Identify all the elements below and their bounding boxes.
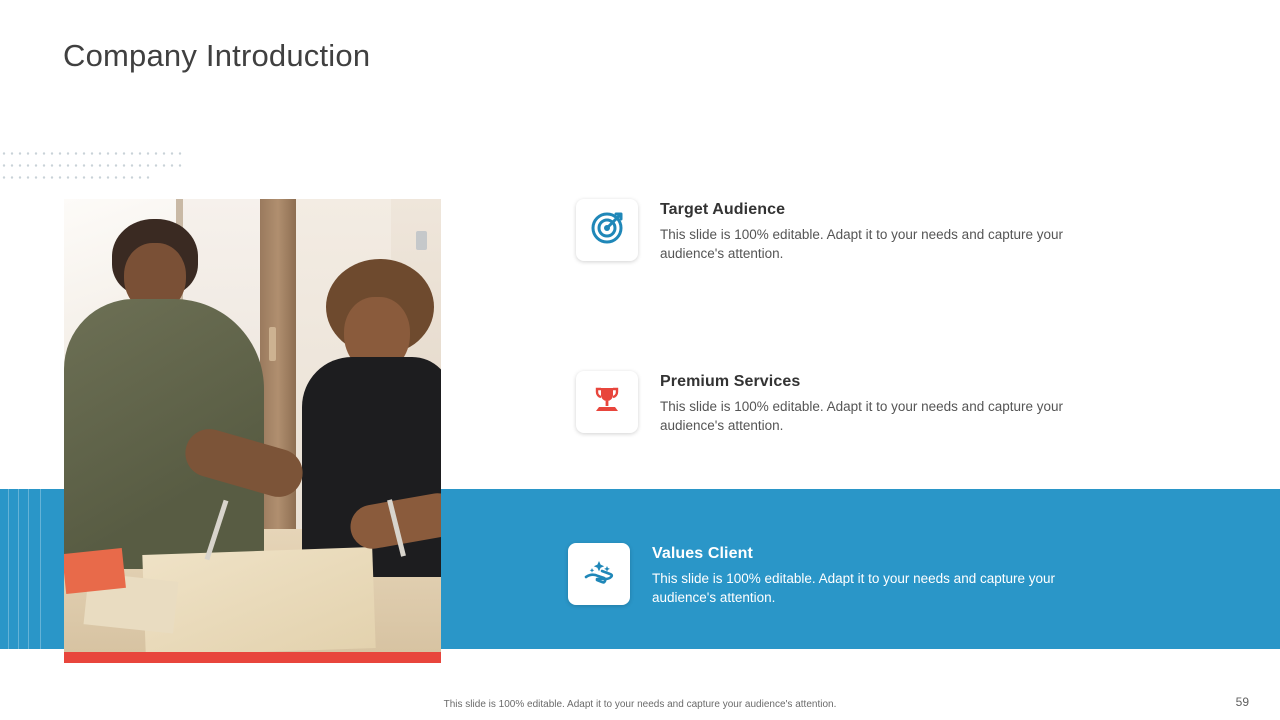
icon-box bbox=[576, 199, 638, 261]
feature-block-premium-services[interactable]: Premium Services This slide is 100% edit… bbox=[576, 371, 1100, 435]
feature-block-target-audience[interactable]: Target Audience This slide is 100% edita… bbox=[576, 199, 1100, 263]
dot-row bbox=[0, 176, 150, 179]
dot-row bbox=[0, 152, 182, 155]
blue-band-stripes bbox=[0, 489, 60, 649]
feature-description: This slide is 100% editable. Adapt it to… bbox=[652, 569, 1092, 607]
feature-description: This slide is 100% editable. Adapt it to… bbox=[660, 225, 1100, 263]
page-title: Company Introduction bbox=[63, 38, 370, 74]
feature-text: Target Audience This slide is 100% edita… bbox=[660, 199, 1100, 263]
hand-sparkle-icon bbox=[582, 555, 616, 594]
target-icon bbox=[590, 211, 624, 250]
icon-box bbox=[568, 543, 630, 605]
feature-title: Target Audience bbox=[660, 201, 1100, 219]
icon-box bbox=[576, 371, 638, 433]
feature-block-values-client[interactable]: Values Client This slide is 100% editabl… bbox=[568, 543, 1092, 607]
dotted-decoration bbox=[0, 152, 182, 192]
dot-row bbox=[0, 164, 182, 167]
feature-description: This slide is 100% editable. Adapt it to… bbox=[660, 397, 1100, 435]
page-number: 59 bbox=[1236, 695, 1249, 709]
feature-title: Premium Services bbox=[660, 373, 1100, 391]
photo-underline bbox=[64, 652, 441, 663]
feature-text: Premium Services This slide is 100% edit… bbox=[660, 371, 1100, 435]
feature-title: Values Client bbox=[652, 545, 1092, 563]
slide-canvas: Company Introduction bbox=[0, 0, 1280, 720]
team-photo bbox=[64, 199, 441, 652]
feature-text: Values Client This slide is 100% editabl… bbox=[652, 543, 1092, 607]
trophy-icon bbox=[590, 383, 624, 422]
footer-note: This slide is 100% editable. Adapt it to… bbox=[0, 699, 1280, 710]
